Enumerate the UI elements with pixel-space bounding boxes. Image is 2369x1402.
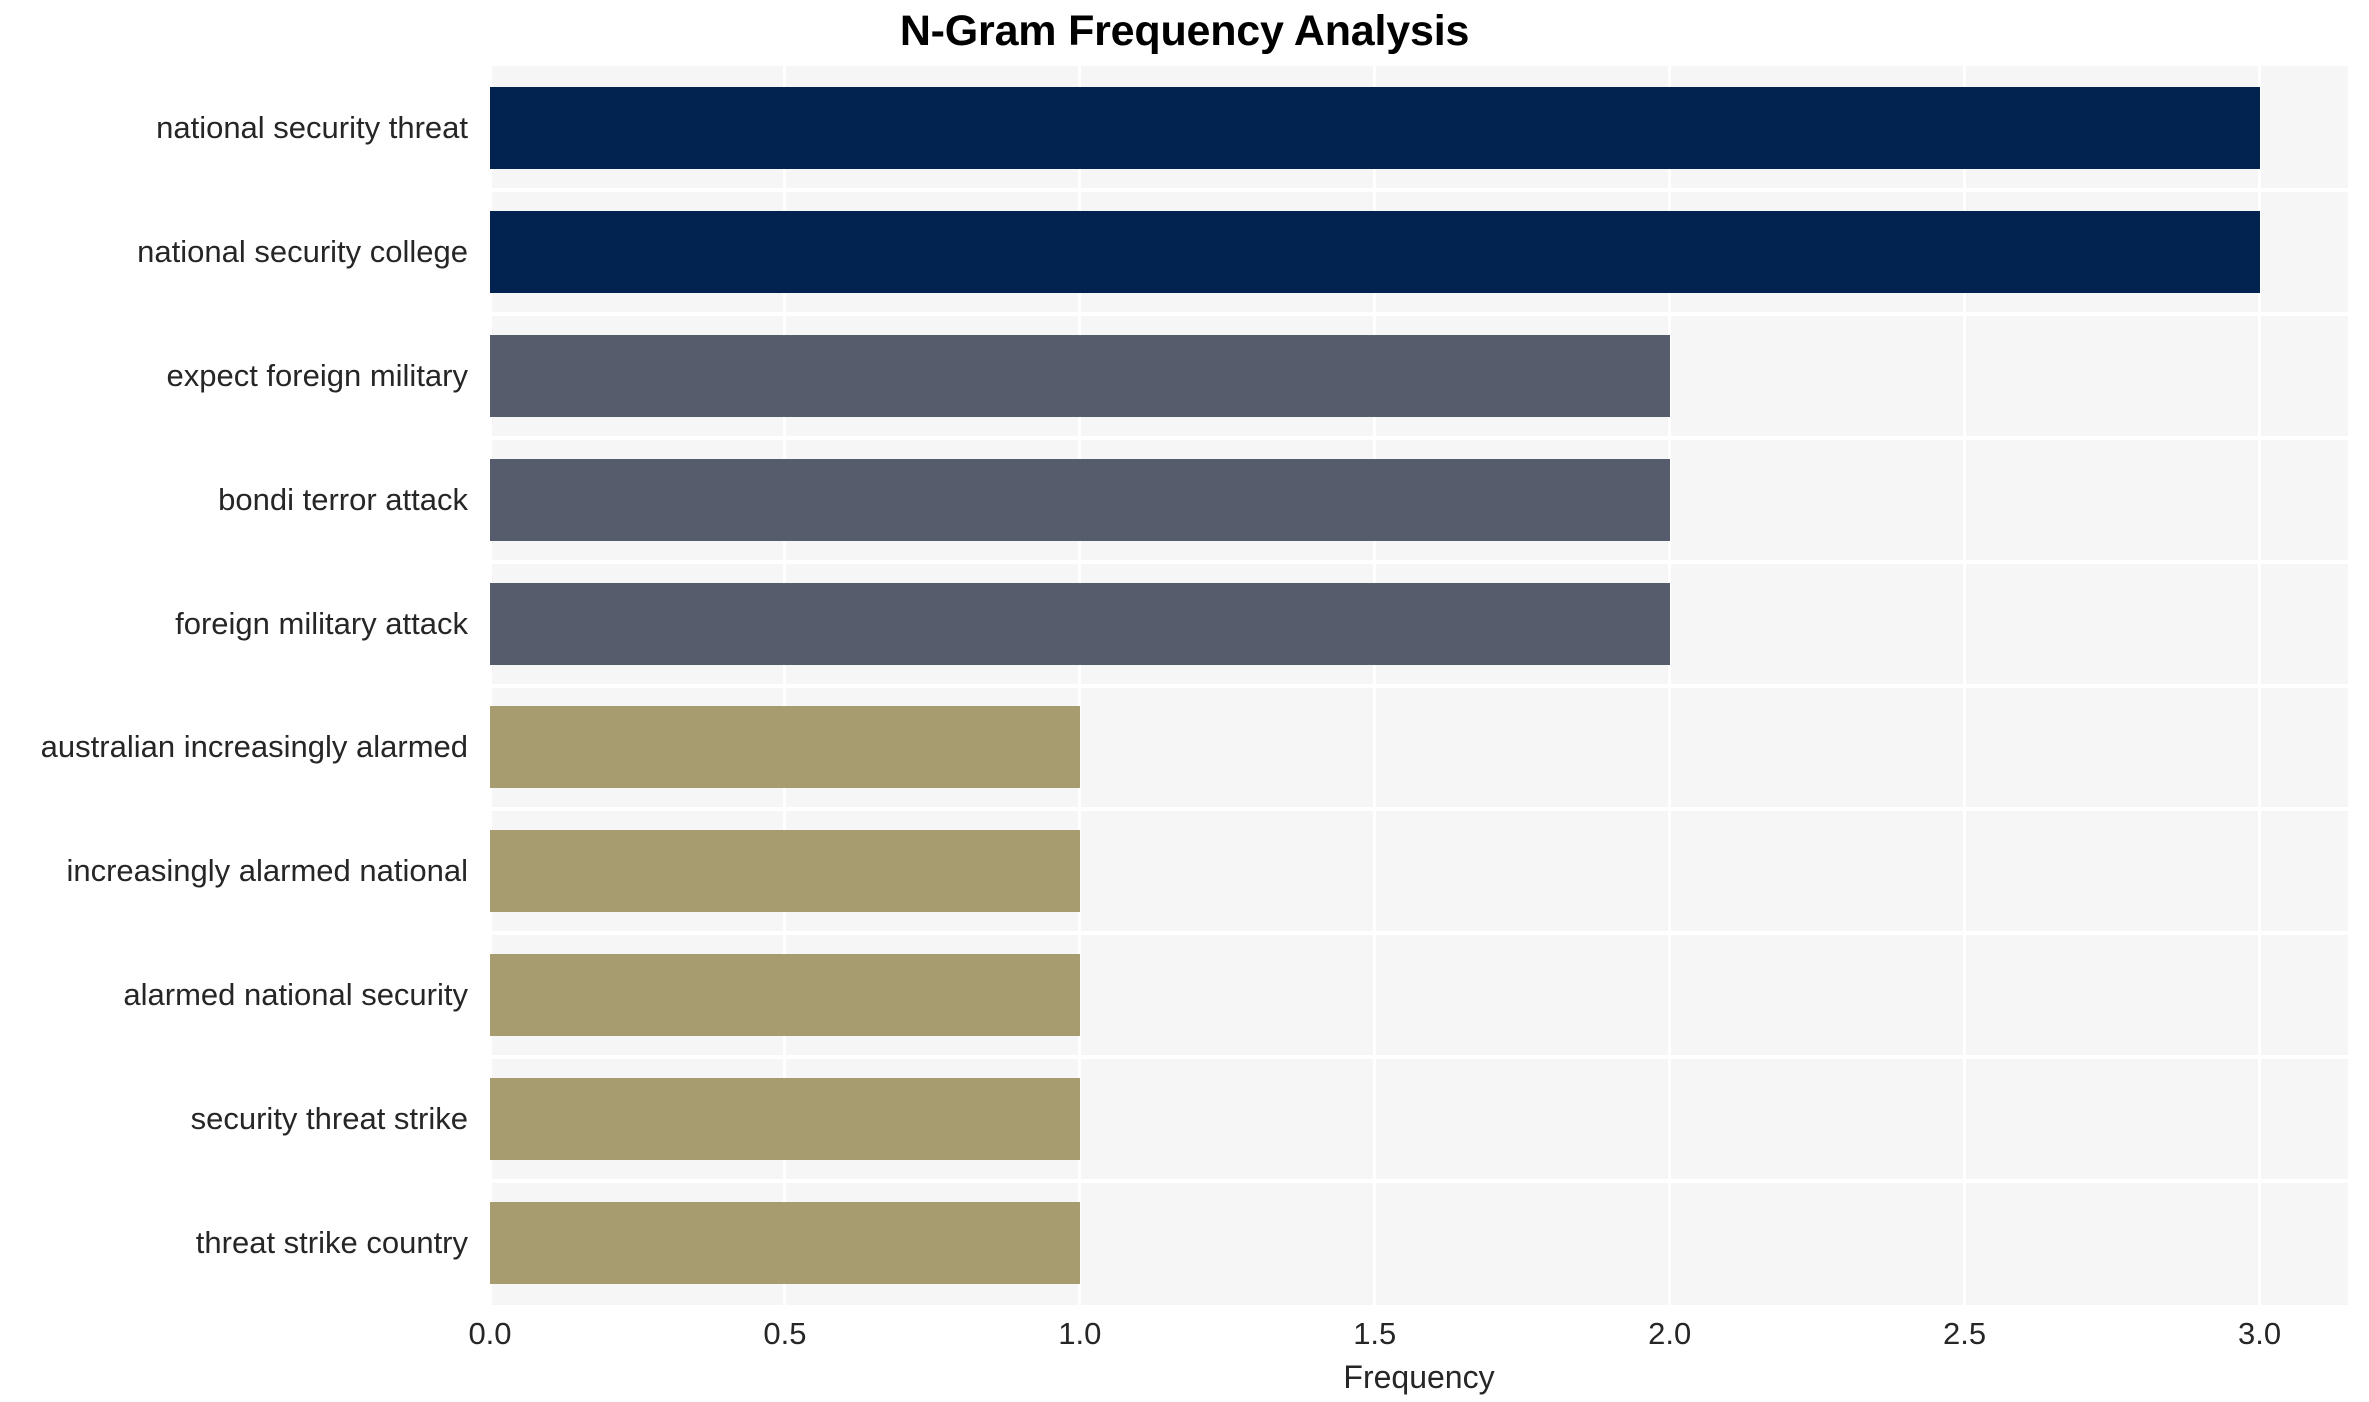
gridline-horizontal xyxy=(490,807,2348,811)
x-axis-tick-label: 0.0 xyxy=(468,1316,511,1352)
x-axis-tick-label: 2.0 xyxy=(1648,1316,1691,1352)
gridline-horizontal xyxy=(490,312,2348,316)
y-axis-tick-label: national security threat xyxy=(0,110,468,146)
y-axis-tick-label: security threat strike xyxy=(0,1101,468,1137)
bar[interactable] xyxy=(490,1202,1080,1284)
y-axis-tick-label: national security college xyxy=(0,234,468,270)
gridline-horizontal xyxy=(490,1179,2348,1183)
gridline-horizontal xyxy=(490,560,2348,564)
y-axis-tick-label: threat strike country xyxy=(0,1225,468,1261)
gridline-horizontal xyxy=(490,188,2348,192)
bar[interactable] xyxy=(490,1078,1080,1160)
y-axis-tick-label: expect foreign military xyxy=(0,358,468,394)
bar[interactable] xyxy=(490,583,1670,665)
gridline-horizontal xyxy=(490,436,2348,440)
y-axis-tick-label: increasingly alarmed national xyxy=(0,853,468,889)
chart-title: N-Gram Frequency Analysis xyxy=(0,6,2369,56)
x-axis-tick-label: 0.5 xyxy=(763,1316,806,1352)
gridline-horizontal xyxy=(490,931,2348,935)
gridline-horizontal xyxy=(490,684,2348,688)
bar[interactable] xyxy=(490,211,2260,293)
chart-figure: N-Gram Frequency Analysis national secur… xyxy=(0,0,2369,1402)
x-axis-tick-label: 1.5 xyxy=(1353,1316,1396,1352)
plot-area xyxy=(490,66,2348,1305)
bar[interactable] xyxy=(490,335,1670,417)
x-axis-label: Frequency xyxy=(490,1358,2348,1396)
x-axis-tick-label: 1.0 xyxy=(1058,1316,1101,1352)
bar[interactable] xyxy=(490,954,1080,1036)
bar[interactable] xyxy=(490,87,2260,169)
bar[interactable] xyxy=(490,706,1080,788)
y-axis-tick-label: bondi terror attack xyxy=(0,482,468,518)
gridline-horizontal xyxy=(490,1055,2348,1059)
bar[interactable] xyxy=(490,459,1670,541)
y-axis-tick-label: foreign military attack xyxy=(0,606,468,642)
y-axis-tick-label: alarmed national security xyxy=(0,977,468,1013)
x-axis-tick-label: 2.5 xyxy=(1943,1316,1986,1352)
y-axis-tick-label: australian increasingly alarmed xyxy=(0,729,468,765)
bar[interactable] xyxy=(490,830,1080,912)
x-axis-tick-label: 3.0 xyxy=(2238,1316,2281,1352)
